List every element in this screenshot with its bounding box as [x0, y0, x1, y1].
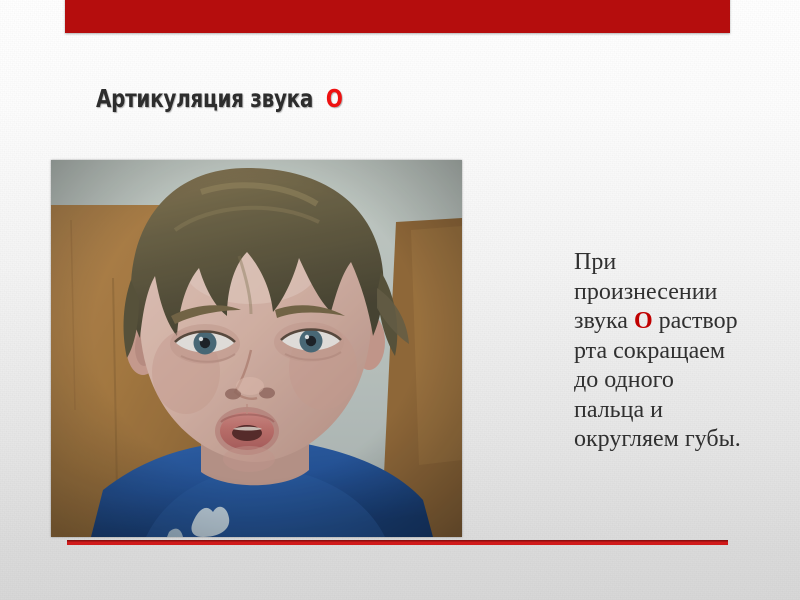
- top-red-banner: [65, 0, 730, 33]
- bottom-red-rule: [67, 540, 728, 545]
- slide-canvas: Артикуляция звукаО: [0, 0, 800, 600]
- boy-photograph: [51, 160, 462, 537]
- slide-title: Артикуляция звукаО: [96, 84, 343, 113]
- body-text-accent-letter: О: [634, 308, 653, 334]
- body-text: При произнесении звука О раствор рта сок…: [574, 248, 742, 455]
- slide-title-text: Артикуляция звука: [96, 84, 313, 113]
- slide-title-accent-letter: О: [326, 84, 343, 113]
- photograph-illustration: [51, 160, 462, 537]
